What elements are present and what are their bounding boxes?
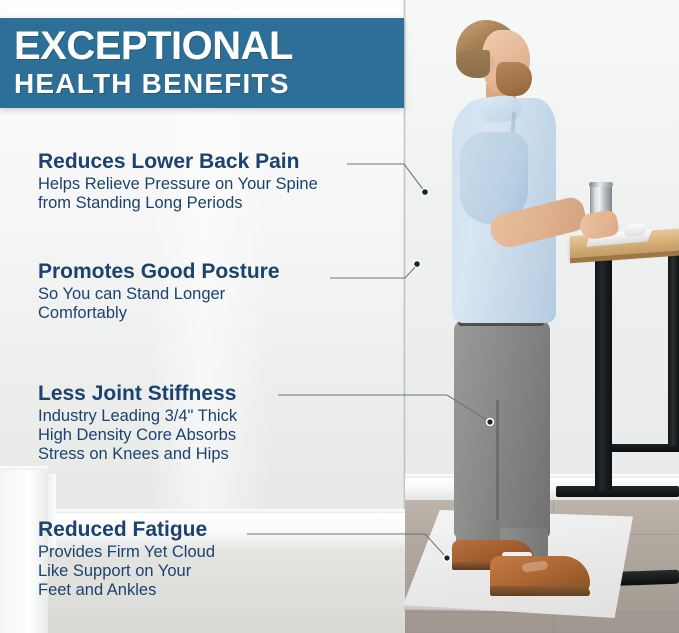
benefit-body: Provides Firm Yet Cloud Like Support on …	[38, 543, 215, 600]
benefit-body: So You can Stand Longer Comfortably	[38, 285, 280, 323]
standing-person	[430, 0, 630, 610]
benefit-heading: Promotes Good Posture	[38, 260, 280, 284]
benefit-body-line: Like Support on Your	[38, 562, 215, 581]
benefit-body-line: So You can Stand Longer	[38, 285, 280, 304]
benefit-promotes-good-posture: Promotes Good Posture So You can Stand L…	[38, 260, 280, 323]
benefit-body-line: Helps Relieve Pressure on Your Spine	[38, 175, 318, 194]
gray-pants	[454, 320, 550, 538]
product-infographic: EXCEPTIONAL HEALTH BENEFITS Reduces Lowe…	[0, 0, 679, 633]
desk-leg-right	[668, 246, 679, 446]
hair-fade	[456, 50, 490, 78]
benefit-heading: Reduces Lower Back Pain	[38, 150, 318, 174]
benefit-body-line: from Standing Long Periods	[38, 194, 318, 213]
benefit-body-line: Stress on Knees and Hips	[38, 445, 237, 464]
benefit-reduced-fatigue: Reduced Fatigue Provides Firm Yet Cloud …	[38, 518, 215, 600]
benefit-body: Industry Leading 3/4" Thick High Density…	[38, 407, 237, 464]
benefit-body-line: High Density Core Absorbs	[38, 426, 237, 445]
benefit-less-joint-stiffness: Less Joint Stiffness Industry Leading 3/…	[38, 382, 237, 464]
shoe-front-sole	[490, 586, 590, 596]
benefit-body-line: Provides Firm Yet Cloud	[38, 543, 215, 562]
benefit-reduces-lower-back-pain: Reduces Lower Back Pain Helps Relieve Pr…	[38, 150, 318, 213]
beard	[496, 62, 532, 96]
pant-leg-separation	[496, 400, 499, 540]
benefit-heading: Less Joint Stiffness	[38, 382, 237, 406]
benefit-body: Helps Relieve Pressure on Your Spine fro…	[38, 175, 318, 213]
title-banner: EXCEPTIONAL HEALTH BENEFITS	[0, 18, 404, 108]
banner-line-2: HEALTH BENEFITS	[14, 68, 404, 100]
benefit-body-line: Feet and Ankles	[38, 581, 215, 600]
benefit-heading: Reduced Fatigue	[38, 518, 215, 542]
banner-line-1: EXCEPTIONAL	[14, 26, 404, 66]
benefit-body-line: Industry Leading 3/4" Thick	[38, 407, 237, 426]
benefit-body-line: Comfortably	[38, 304, 280, 323]
